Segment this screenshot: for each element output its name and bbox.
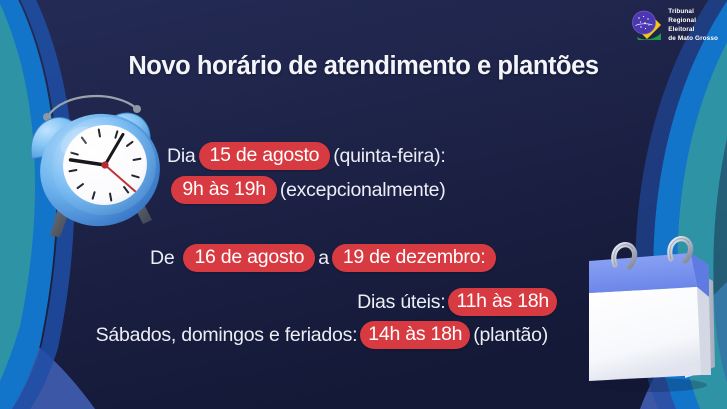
first-day-block: Dia 15 de agosto (quinta-feira): 9h às 1… bbox=[164, 141, 449, 205]
logo-text: Tribunal Regional Eleitoral de Mato Gros… bbox=[668, 7, 718, 43]
poster-canvas: Tribunal Regional Eleitoral de Mato Gros… bbox=[0, 0, 727, 409]
first-day-date-pill: 15 de agosto bbox=[199, 142, 331, 170]
first-day-prefix: Dia bbox=[164, 146, 199, 166]
alarm-clock-illustration bbox=[18, 88, 174, 238]
period-line: De 16 de agosto a 19 de dezembro: bbox=[147, 243, 496, 273]
period-block: De 16 de agosto a 19 de dezembro: bbox=[147, 243, 496, 273]
logo-line-2: Regional bbox=[668, 16, 718, 25]
schedule-block: Dias úteis: 11h às 18h Sábados, domingos… bbox=[0, 287, 727, 350]
schedule-weekdays-line: Dias úteis: 11h às 18h bbox=[0, 287, 727, 317]
first-day-line-2: 9h às 19h (excepcionalmente) bbox=[164, 175, 449, 205]
first-day-note: (excepcionalmente) bbox=[277, 180, 449, 200]
schedule-weekend-note: (plantão) bbox=[470, 325, 551, 345]
schedule-weekdays-label: Dias úteis: bbox=[354, 292, 448, 312]
period-prefix: De bbox=[147, 248, 177, 268]
period-between: a bbox=[315, 248, 332, 268]
period-start-pill: 16 de agosto bbox=[183, 244, 315, 272]
logo-line-3: Eleitoral bbox=[668, 25, 718, 34]
schedule-weekend-label: Sábados, domingos e feriados: bbox=[93, 325, 361, 345]
logo-line-1: Tribunal bbox=[668, 7, 718, 16]
first-day-weekday: (quinta-feira): bbox=[330, 146, 448, 166]
first-day-line-1: Dia 15 de agosto (quinta-feira): bbox=[164, 141, 449, 171]
first-day-hours-pill: 9h às 19h bbox=[171, 176, 276, 204]
schedule-weekdays-pill: 11h às 18h bbox=[448, 288, 557, 316]
schedule-weekend-line: Sábados, domingos e feriados: 14h às 18h… bbox=[0, 320, 727, 350]
schedule-weekend-pill: 14h às 18h bbox=[360, 321, 470, 349]
tre-mt-logo: Tribunal Regional Eleitoral de Mato Gros… bbox=[629, 7, 718, 43]
tre-mt-logo-mark bbox=[629, 7, 665, 43]
period-end-pill: 19 de dezembro: bbox=[332, 244, 497, 272]
page-title: Novo horário de atendimento e plantões bbox=[0, 52, 727, 81]
logo-line-4: de Mato Grosso bbox=[668, 34, 718, 43]
